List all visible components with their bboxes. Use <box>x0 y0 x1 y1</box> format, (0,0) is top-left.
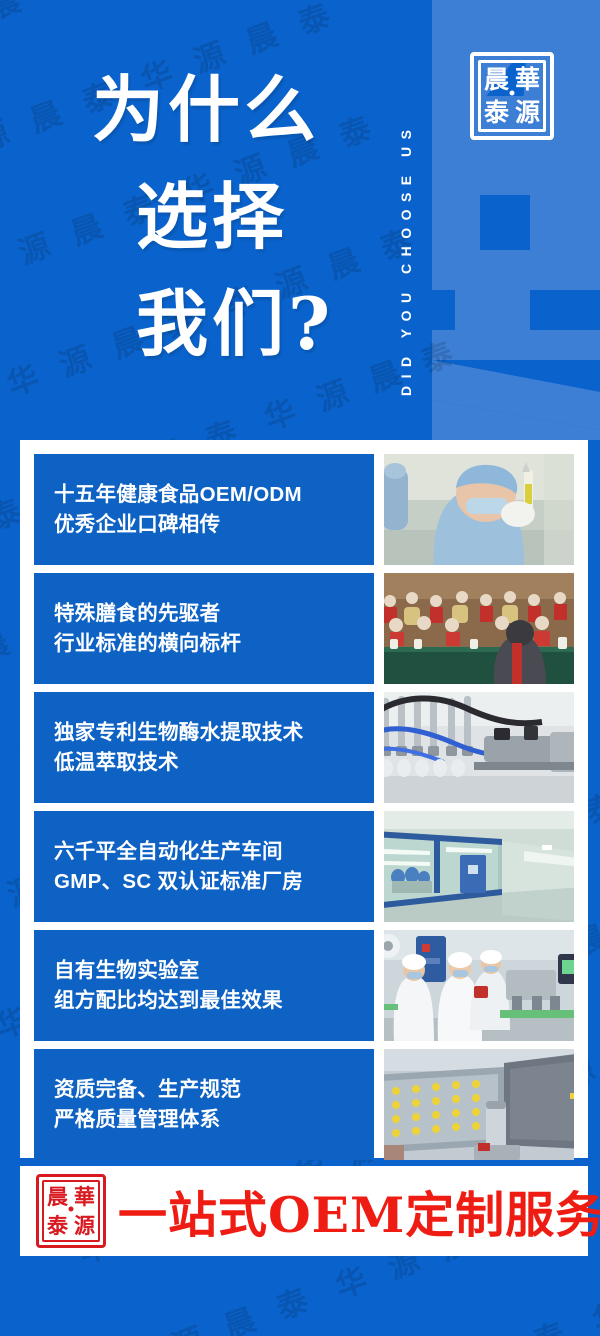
benefit-text-box: 独家专利生物酶水提取技术 低温萃取技术 <box>34 692 374 803</box>
benefit-line-1: 十五年健康食品OEM/ODM <box>54 480 374 510</box>
benefit-photo-technician-inspecting-vial <box>384 454 574 565</box>
poster-header: 为什么 选择 我们? DID YOU CHOOSE US 華 晨 源 泰 <box>0 0 600 440</box>
benefit-photo-blister-packing-yellow-tablets <box>384 1049 574 1160</box>
benefit-photo-conference-audience-hall <box>384 573 574 684</box>
benefit-line-2: 低温萃取技术 <box>54 748 374 778</box>
seal-char-chen: 晨 <box>44 1182 71 1211</box>
benefit-line-1: 资质完备、生产规范 <box>54 1075 374 1105</box>
benefit-line-2: 优秀企业口碑相传 <box>54 510 374 540</box>
bottom-banner: 華 晨 源 泰 一站式OEM定制服务 <box>20 1166 588 1256</box>
benefit-photo-liquid-filling-machine-line <box>384 692 574 803</box>
benefit-text-box: 自有生物实验室 组方配比均达到最佳效果 <box>34 930 374 1041</box>
page-title: 为什么 选择 我们? <box>92 56 334 377</box>
vertical-subtitle: DID YOU CHOOSE US <box>398 36 414 396</box>
benefits-panel: 十五年健康食品OEM/ODM 优秀企业口碑相传 <box>20 440 588 1158</box>
benefit-row: 十五年健康食品OEM/ODM 优秀企业口碑相传 <box>34 454 574 565</box>
benefit-photo-lab-staff-white-coats-line <box>384 930 574 1041</box>
benefit-text-box: 六千平全自动化生产车间 GMP、SC 双认证标准厂房 <box>34 811 374 922</box>
seal-char-yuan: 源 <box>71 1211 98 1240</box>
seal-char-tai: 泰 <box>481 96 512 129</box>
seal-char-hua: 華 <box>71 1182 98 1211</box>
benefit-photo-cleanroom-corridor-window <box>384 811 574 922</box>
benefit-text-box: 资质完备、生产规范 严格质量管理体系 <box>34 1049 374 1160</box>
benefit-line-2: 组方配比均达到最佳效果 <box>54 986 374 1016</box>
benefit-line-1: 自有生物实验室 <box>54 956 374 986</box>
benefit-line-2: 严格质量管理体系 <box>54 1105 374 1135</box>
benefit-row: 自有生物实验室 组方配比均达到最佳效果 <box>34 930 574 1041</box>
benefit-line-2: GMP、SC 双认证标准厂房 <box>54 867 374 897</box>
seal-char-tai: 泰 <box>44 1211 71 1240</box>
title-line-1: 为什么 <box>92 56 334 163</box>
benefit-line-1: 独家专利生物酶水提取技术 <box>54 718 374 748</box>
brand-seal-logo-red: 華 晨 源 泰 <box>36 1174 106 1248</box>
benefit-row: 独家专利生物酶水提取技术 低温萃取技术 <box>34 692 574 803</box>
seal-char-chen: 晨 <box>481 63 512 96</box>
benefit-text-box: 特殊膳食的先驱者 行业标准的横向标杆 <box>34 573 374 684</box>
poster-root: 华 源 晨 泰 华 源 晨 泰 华 源 晨 泰 华 源 晨 泰 华 源 晨 泰 … <box>0 0 600 1336</box>
benefit-text-box: 十五年健康食品OEM/ODM 优秀企业口碑相传 <box>34 454 374 565</box>
watermark: 华 源 晨 泰 <box>344 1267 600 1336</box>
seal-char-yuan: 源 <box>512 96 543 129</box>
benefit-row: 特殊膳食的先驱者 行业标准的横向标杆 <box>34 573 574 684</box>
benefit-row: 六千平全自动化生产车间 GMP、SC 双认证标准厂房 <box>34 811 574 922</box>
benefit-line-2: 行业标准的横向标杆 <box>54 629 374 659</box>
benefit-line-1: 特殊膳食的先驱者 <box>54 599 374 629</box>
banner-slogan: 一站式OEM定制服务 <box>118 1176 600 1247</box>
brand-seal-logo: 華 晨 源 泰 <box>470 52 554 140</box>
seal-inner: 華 晨 源 泰 <box>478 60 546 132</box>
title-line-3: 我们? <box>92 270 334 377</box>
seal-char-hua: 華 <box>512 63 543 96</box>
title-line-2: 选择 <box>92 163 334 270</box>
benefit-line-1: 六千平全自动化生产车间 <box>54 837 374 867</box>
benefit-row: 资质完备、生产规范 严格质量管理体系 <box>34 1049 574 1160</box>
seal-inner: 華 晨 源 泰 <box>42 1180 100 1242</box>
